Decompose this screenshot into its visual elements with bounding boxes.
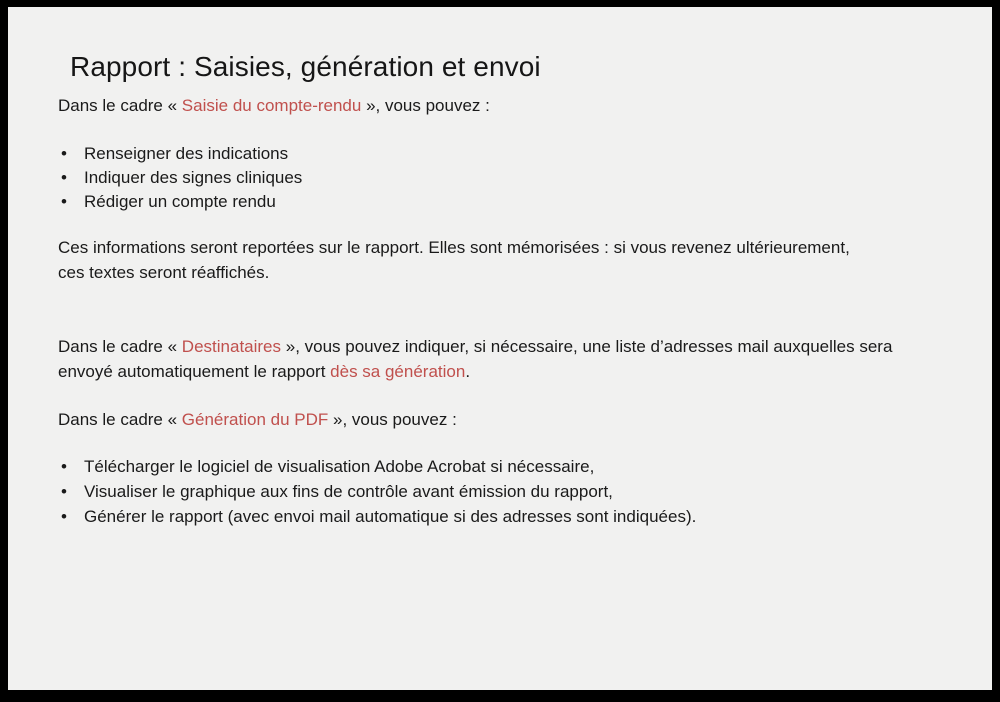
accent-generation-du-pdf: Génération du PDF: [182, 410, 328, 429]
list-item: • Rédiger un compte rendu: [58, 190, 302, 214]
text-lead: Dans le cadre «: [58, 337, 182, 356]
paragraph-pdf-intro: Dans le cadre « Génération du PDF », vou…: [58, 407, 457, 432]
paragraph-line: Ces informations seront reportées sur le…: [58, 235, 850, 260]
text-mid: », vous pouvez indiquer, si nécessaire, …: [281, 337, 892, 356]
slide-frame: Rapport : Saisies, génération et envoi D…: [0, 0, 1000, 702]
accent-destinataires: Destinataires: [182, 337, 281, 356]
bullet-list-pdf: • Télécharger le logiciel de visualisati…: [58, 454, 696, 529]
text-tail: », vous pouvez :: [328, 410, 457, 429]
paragraph-line: Dans le cadre « Génération du PDF », vou…: [58, 407, 457, 432]
accent-saisie-du-compte-rendu: Saisie du compte-rendu: [182, 96, 362, 115]
accent-des-sa-generation: dès sa génération: [330, 362, 465, 381]
list-item: • Télécharger le logiciel de visualisati…: [58, 454, 696, 479]
bullet-icon: •: [61, 479, 75, 504]
list-item: • Visualiser le graphique aux fins de co…: [58, 479, 696, 504]
paragraph-line: Dans le cadre « Saisie du compte-rendu »…: [58, 93, 490, 118]
text-lead: envoyé automatiquement le rapport: [58, 362, 330, 381]
text-lead: Dans le cadre «: [58, 96, 182, 115]
slide-canvas: Rapport : Saisies, génération et envoi D…: [8, 7, 992, 690]
text-tail: .: [465, 362, 470, 381]
bullet-icon: •: [61, 190, 75, 214]
list-item-label: Indiquer des signes cliniques: [84, 168, 302, 187]
text-tail: », vous pouvez :: [361, 96, 490, 115]
bullet-icon: •: [61, 142, 75, 166]
list-item-label: Rédiger un compte rendu: [84, 192, 276, 211]
bullet-icon: •: [61, 454, 75, 479]
page-title: Rapport : Saisies, génération et envoi: [70, 48, 541, 86]
list-item: • Renseigner des indications: [58, 142, 302, 166]
paragraph-saisie-intro: Dans le cadre « Saisie du compte-rendu »…: [58, 93, 490, 118]
text-lead: Dans le cadre «: [58, 410, 182, 429]
bullet-icon: •: [61, 166, 75, 190]
paragraph-destinataires: Dans le cadre « Destinataires », vous po…: [58, 334, 892, 384]
list-item: • Indiquer des signes cliniques: [58, 166, 302, 190]
paragraph-line: envoyé automatiquement le rapport dès sa…: [58, 359, 892, 384]
bullet-list-saisie: • Renseigner des indications • Indiquer …: [58, 142, 302, 214]
list-item-label: Générer le rapport (avec envoi mail auto…: [84, 507, 696, 526]
list-item: • Générer le rapport (avec envoi mail au…: [58, 504, 696, 529]
paragraph-line: ces textes seront réaffichés.: [58, 260, 850, 285]
paragraph-memorisation: Ces informations seront reportées sur le…: [58, 235, 850, 285]
bullet-icon: •: [61, 504, 75, 529]
list-item-label: Visualiser le graphique aux fins de cont…: [84, 482, 613, 501]
list-item-label: Renseigner des indications: [84, 144, 288, 163]
list-item-label: Télécharger le logiciel de visualisation…: [84, 457, 594, 476]
paragraph-line: Dans le cadre « Destinataires », vous po…: [58, 334, 892, 359]
